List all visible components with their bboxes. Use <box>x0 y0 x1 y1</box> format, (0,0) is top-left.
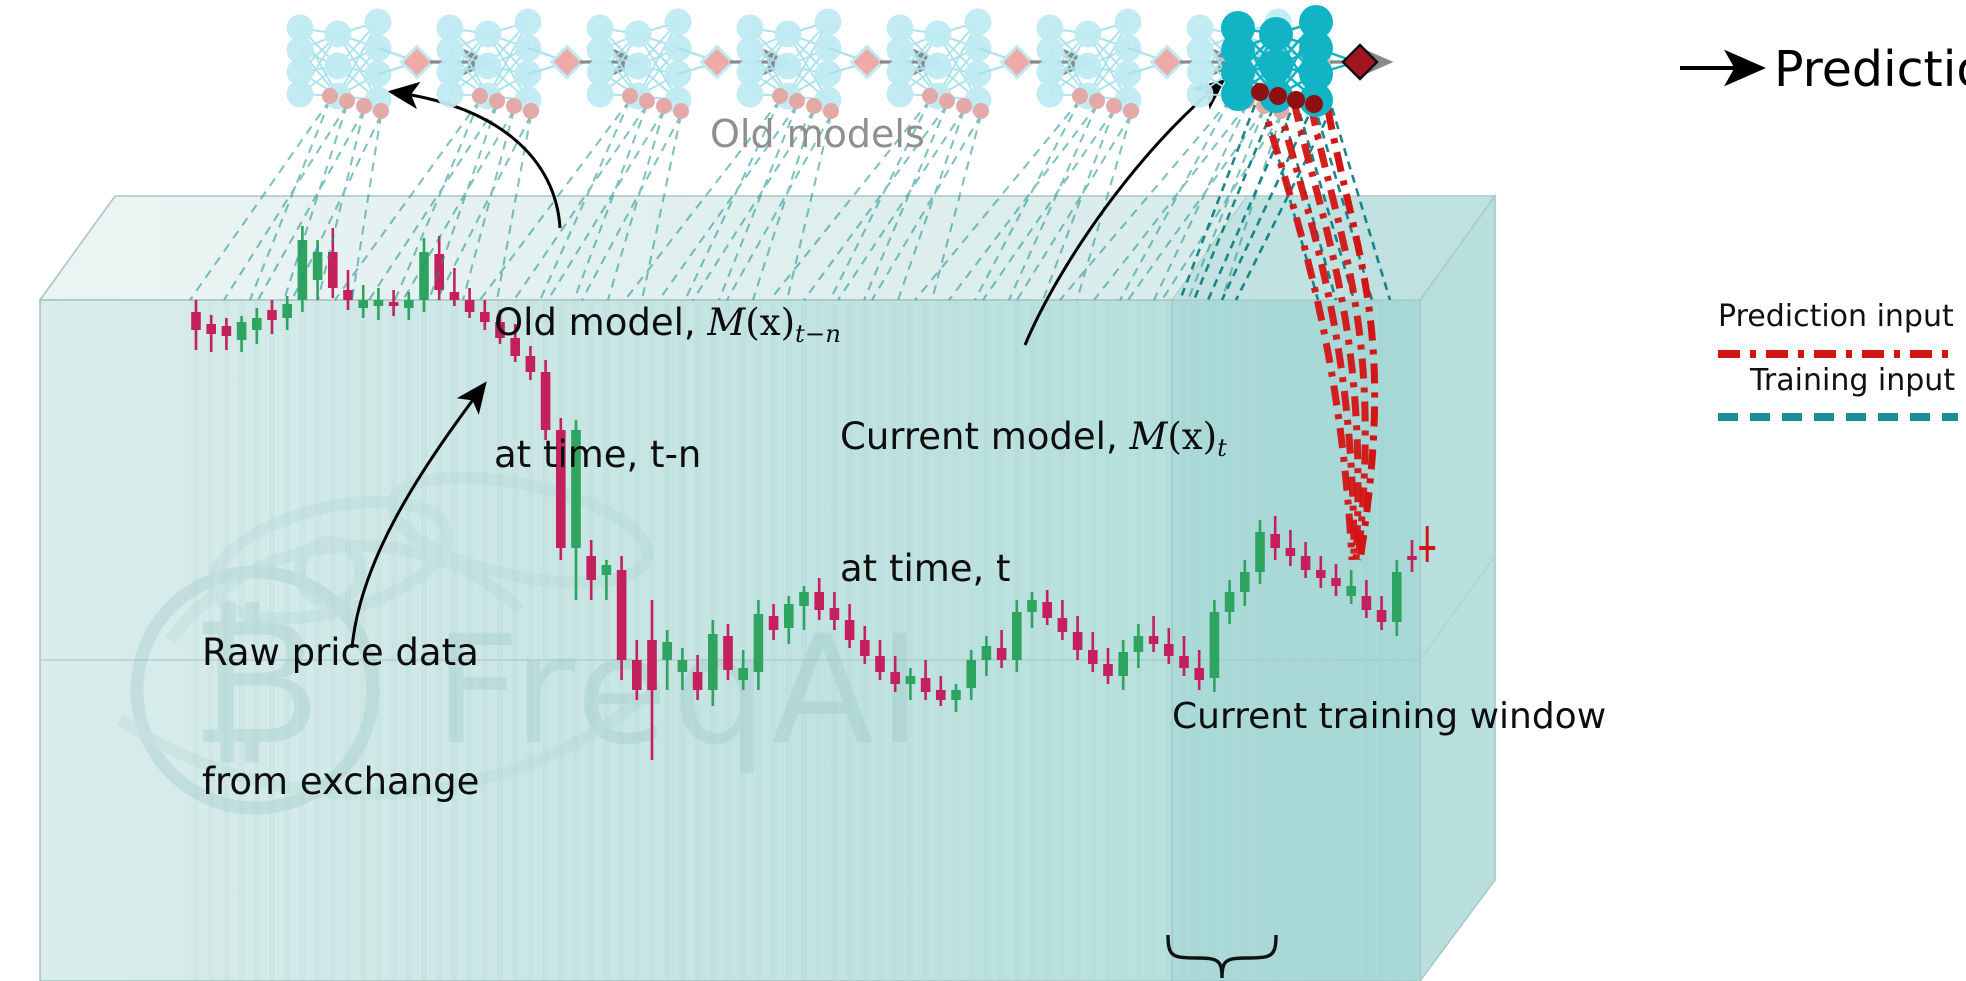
annotation-old-model-math: M(x)t−n <box>707 301 841 344</box>
annotation-current-model-line2: at time, t <box>840 548 1227 591</box>
old-models-label: Old models <box>710 112 925 156</box>
annotation-old-model-line1: Old model, M(x)t−n <box>494 302 841 348</box>
annotation-raw-price-line1: Raw price data <box>202 632 479 675</box>
current-training-window-label: Current training window <box>1172 696 1606 738</box>
legend-label-prediction-input: Prediction input <box>1718 300 1954 335</box>
legend-label-training-input: Training input <box>1750 364 1955 399</box>
prediction-label: Prediction <box>1774 42 1966 99</box>
annotation-old-model: Old model, M(x)t−n at time, t-n <box>494 216 841 563</box>
annotation-raw-price-line2: from exchange <box>202 761 479 804</box>
annotation-current-model-prefix: Current model, <box>840 415 1129 458</box>
annotation-old-model-line2: at time, t-n <box>494 434 841 477</box>
model-chain <box>287 5 1391 119</box>
annotation-raw-price: Raw price data from exchange <box>202 546 479 889</box>
diagram-canvas: ₿ FreqAI <box>0 0 1966 981</box>
annotation-old-model-prefix: Old model, <box>494 301 707 344</box>
annotation-current-model: Current model, M(x)t at time, t <box>840 330 1227 677</box>
annotation-current-model-math: M(x)t <box>1129 415 1226 458</box>
annotation-current-model-line1: Current model, M(x)t <box>840 416 1227 462</box>
